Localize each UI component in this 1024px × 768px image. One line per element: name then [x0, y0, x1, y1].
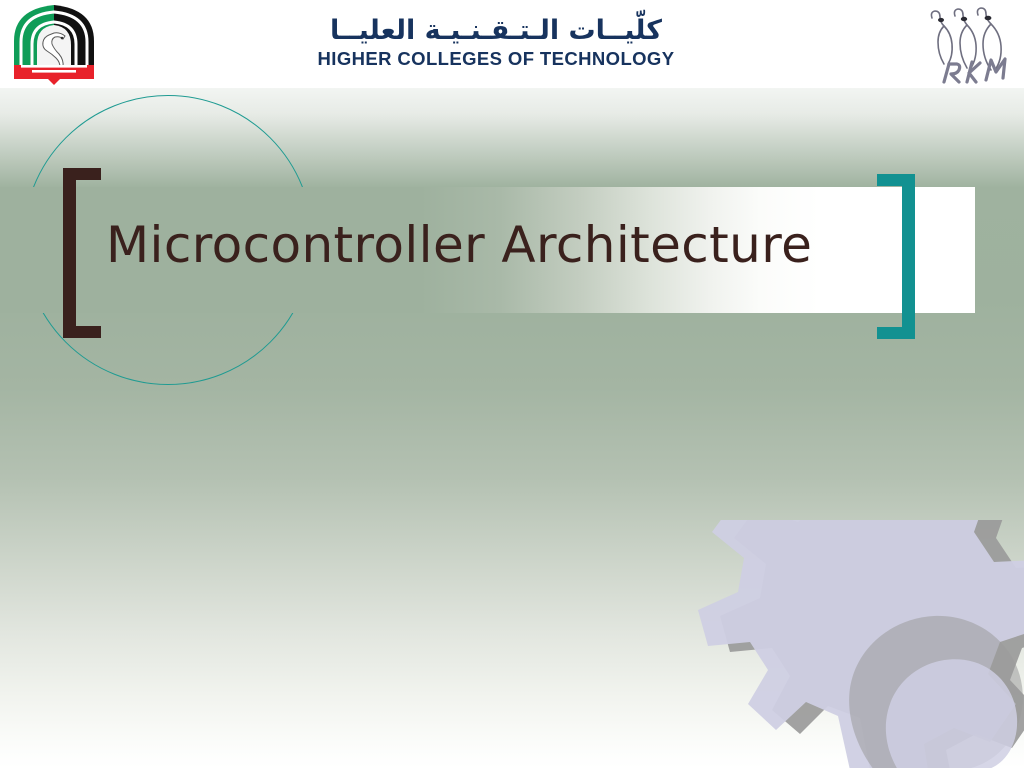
hct-wordmark-english: HIGHER COLLEGES OF TECHNOLOGY — [296, 48, 696, 70]
hct-wordmark: كلّيــات الـتـقـنـيـة العليــا HIGHER CO… — [296, 14, 696, 76]
hct-wordmark-arabic: كلّيــات الـتـقـنـيـة العليــا — [296, 14, 696, 48]
gear-cog-icon — [660, 520, 1024, 768]
header-bar: كلّيــات الـتـقـنـيـة العليــا HIGHER CO… — [0, 0, 1024, 88]
rkm-three-falcons-logo-icon — [918, 2, 1014, 86]
slide-title: Microcontroller Architecture — [106, 216, 906, 274]
hct-arch-falcon-logo-icon — [8, 3, 100, 85]
presentation-slide: Microcontroller Architecture — [0, 0, 1024, 768]
square-bracket-left-icon — [63, 168, 101, 338]
